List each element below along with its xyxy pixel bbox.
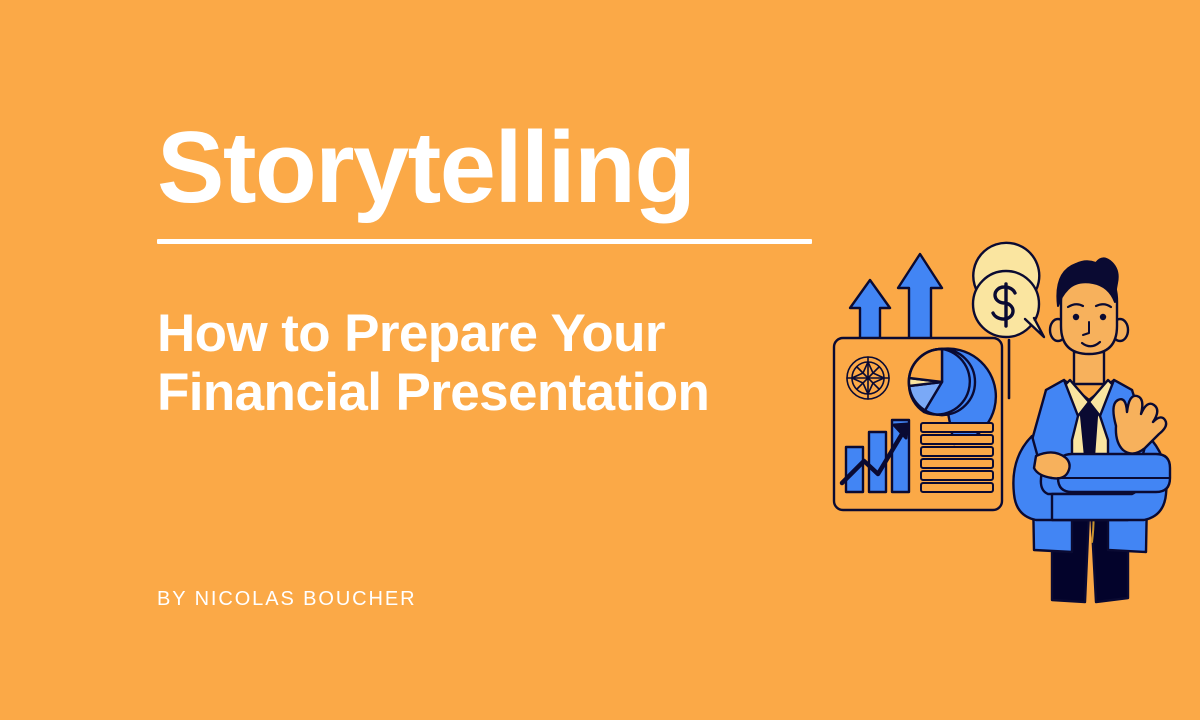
compass-icon <box>847 357 889 399</box>
financial-presentation-illustration <box>820 240 1200 620</box>
page-subtitle: How to Prepare Your Financial Presentati… <box>157 304 797 423</box>
title-underline <box>157 239 812 244</box>
presentation-slide: Storytelling How to Prepare Your Financi… <box>0 0 1200 720</box>
page-title: Storytelling <box>157 118 837 219</box>
author-byline: BY NICOLAS BOUCHER <box>157 588 416 611</box>
title-block: Storytelling How to Prepare Your Financi… <box>157 118 837 423</box>
hand <box>1113 396 1166 454</box>
